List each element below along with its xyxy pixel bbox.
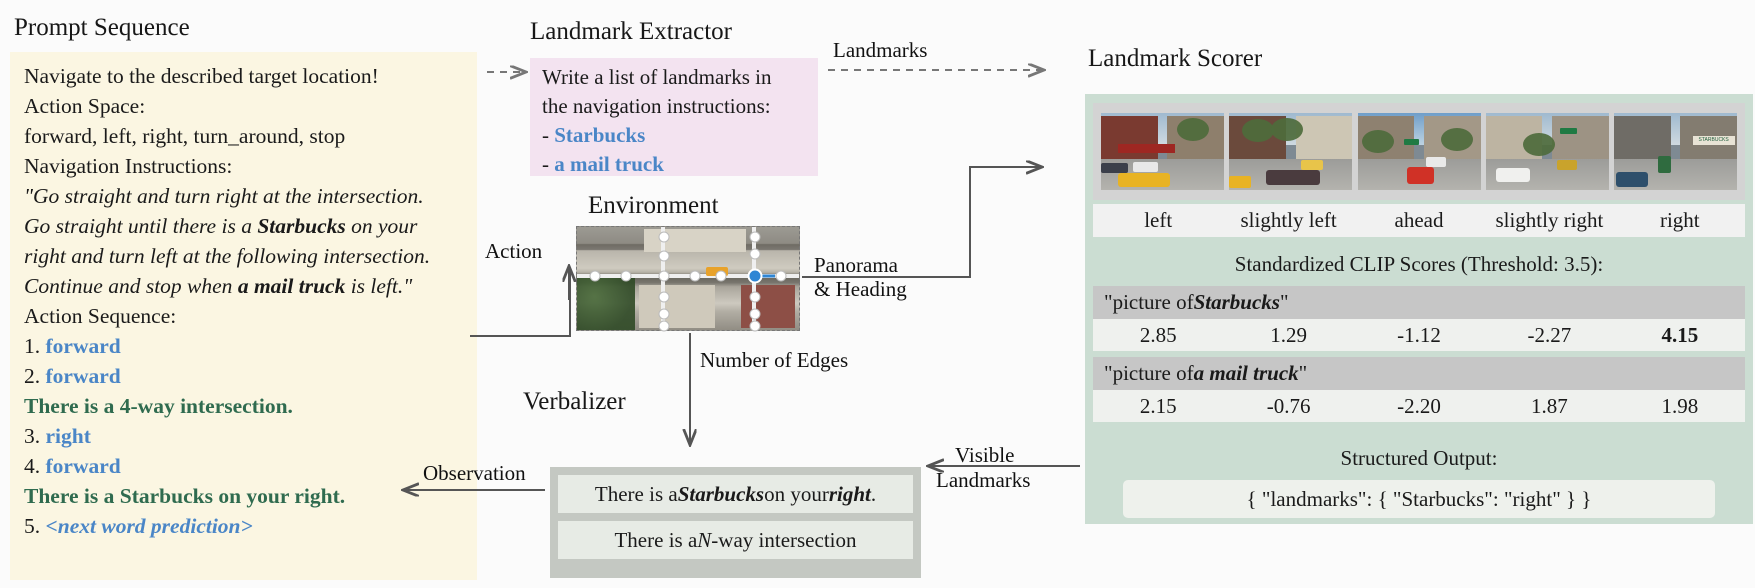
arrow-label-visible: Visible (955, 443, 1014, 468)
prompt-line-navigate: Navigate to the described target locatio… (10, 52, 477, 91)
prompt-line-text: forward, left, right, turn_around, stop (24, 124, 345, 148)
prompt-line-text: Navigate to the described target locatio… (24, 64, 379, 88)
verbalizer-panel: There is a Starbucks on your right. Ther… (550, 467, 921, 578)
score-cell-right: 1.98 (1615, 394, 1745, 419)
street-sign (1560, 128, 1577, 133)
extracted-landmark-label: Starbucks (554, 123, 645, 147)
white-car (1496, 168, 1530, 182)
prompt-line-text: "Go straight and turn right at the inter… (24, 184, 424, 208)
extractor-instruction-line-1: Write a list of landmarks in (530, 58, 818, 92)
prompt-line-instruction-1: "Go straight and turn right at the inter… (10, 181, 477, 211)
action-step-1: 1. forward (10, 331, 477, 361)
observation-line-1: There is a 4-way intersection. (10, 391, 477, 421)
action-step-number: 5. (24, 514, 40, 538)
verbalizer-text: . (871, 482, 876, 507)
agent-position-marker (747, 269, 762, 284)
action-step-value: forward (46, 364, 121, 388)
prompt-line-text: is left." (345, 274, 412, 298)
verbalizer-n-variable: N (697, 528, 711, 553)
graph-node (658, 292, 669, 303)
map-building-right (741, 285, 794, 328)
action-step-number: 3. (24, 424, 40, 448)
score-cell-ahead: -2.20 (1354, 394, 1484, 419)
landmark-extractor-panel: Write a list of landmarks in the navigat… (530, 58, 818, 176)
prompt-line-instruction-4: Continue and stop when a mail truck is l… (10, 271, 477, 301)
prompt-line-action-space-values: forward, left, right, turn_around, stop (10, 121, 477, 151)
starbucks-storefront-sign: STARBUCKS (1693, 136, 1735, 144)
score-block-mail-truck: "picture of a mail truck" 2.15 -0.76 -2.… (1093, 357, 1745, 422)
tree (1242, 119, 1274, 142)
score-cell-left: 2.85 (1093, 323, 1223, 348)
tree (1177, 118, 1209, 141)
verbalizer-text: on your (764, 482, 829, 507)
landmark-scorer-panel: STARBUCKS left slightly left ahead sligh… (1085, 94, 1753, 524)
arrow-label-number-of-edges: Number of Edges (700, 348, 848, 373)
graph-node (749, 248, 760, 259)
arrow-action-to-environment (470, 272, 570, 336)
arrow-label-landmarks: Landmarks (833, 38, 927, 63)
score-cell-slightly-right: 1.87 (1484, 394, 1614, 419)
arrow-label-heading: & Heading (814, 277, 907, 302)
bullet-marker: - (542, 152, 549, 176)
action-step-3: 3. right (10, 421, 477, 451)
heading-label-slightly-left: slightly left (1223, 208, 1353, 233)
tree (1271, 118, 1303, 141)
map-building-left (639, 285, 714, 328)
action-step-number: 1. (24, 334, 40, 358)
action-step-5: 5. <next word prediction> (10, 511, 477, 541)
arrow-label-action: Action (485, 239, 542, 264)
graph-node (749, 292, 760, 303)
red-awning (1118, 144, 1175, 153)
query-text: " (1280, 290, 1289, 315)
panorama-image-right: STARBUCKS (1614, 113, 1737, 190)
yellow-taxi (1118, 173, 1170, 187)
extracted-landmark-item-2: - a mail truck (530, 150, 818, 179)
prompt-line-text: Go straight until there is a (24, 214, 257, 238)
tree (1523, 133, 1555, 156)
graph-node (776, 271, 787, 282)
score-cell-left: 2.15 (1093, 394, 1223, 419)
arrow-label-visible-landmarks: Landmarks (936, 468, 1030, 493)
prompt-line-text: Action Space: (24, 94, 145, 118)
prompt-line-text: Continue and stop when (24, 274, 238, 298)
query-landmark: a mail truck (1194, 361, 1299, 386)
observation-text: There is a 4-way intersection. (24, 394, 293, 418)
landmark-extractor-title: Landmark Extractor (530, 18, 732, 46)
prompt-landmark-starbucks: Starbucks (257, 214, 345, 238)
heading-label-right: right (1615, 208, 1745, 233)
score-cell-slightly-left: -0.76 (1223, 394, 1353, 419)
car (1616, 172, 1648, 187)
score-cell-right: 4.15 (1615, 323, 1745, 348)
graph-node (620, 271, 631, 282)
building (1101, 116, 1158, 164)
yellow-taxi (1301, 160, 1323, 170)
graph-node (716, 271, 727, 282)
environment-map-image (576, 226, 800, 331)
next-word-prediction-placeholder: <next word prediction> (46, 514, 253, 538)
score-values-starbucks: 2.85 1.29 -1.12 -2.27 4.15 (1093, 319, 1745, 351)
prompt-line-action-sequence-label: Action Sequence: (10, 301, 477, 331)
panorama-heading-labels-row: left slightly left ahead slightly right … (1093, 204, 1745, 237)
verbalizer-direction: right (829, 482, 871, 507)
action-step-2: 2. forward (10, 361, 477, 391)
score-values-mail-truck: 2.15 -0.76 -2.20 1.87 1.98 (1093, 390, 1745, 422)
graph-node (658, 250, 669, 261)
extractor-instruction-line-2: the navigation instructions: (530, 92, 818, 121)
verbalizer-text: -way intersection (711, 528, 856, 553)
arrow-label-observation: Observation (423, 461, 526, 486)
heading-label-ahead: ahead (1354, 208, 1484, 233)
graph-node (658, 308, 669, 319)
graph-node (589, 271, 600, 282)
yellow-taxi (1229, 176, 1251, 188)
clip-scores-title: Standardized CLIP Scores (Threshold: 3.5… (1093, 252, 1745, 277)
prompt-line-instruction-3: right and turn left at the following int… (10, 241, 477, 271)
extracted-landmark-item-1: - Starbucks (530, 121, 818, 150)
graph-node (658, 232, 669, 243)
map-vegetation (577, 274, 635, 330)
panorama-image-left (1101, 113, 1224, 190)
trash-bin (1658, 156, 1670, 173)
action-step-number: 2. (24, 364, 40, 388)
arrow-label-panorama: Panorama (814, 253, 898, 278)
car (1266, 170, 1320, 185)
bullet-marker: - (542, 123, 549, 147)
prompt-sequence-title: Prompt Sequence (14, 14, 190, 42)
verbalizer-row-landmark: There is a Starbucks on your right. (558, 475, 913, 513)
score-cell-slightly-right: -2.27 (1484, 323, 1614, 348)
action-step-4: 4. forward (10, 451, 477, 481)
graph-node (658, 320, 669, 331)
action-step-value: forward (46, 454, 121, 478)
score-query-mail-truck: "picture of a mail truck" (1093, 357, 1745, 390)
action-step-value: right (46, 424, 91, 448)
heading-label-slightly-right: slightly right (1484, 208, 1614, 233)
score-block-starbucks: "picture of Starbucks" 2.85 1.29 -1.12 -… (1093, 286, 1745, 351)
verbalizer-text: There is a (614, 528, 697, 553)
graph-node (749, 308, 760, 319)
graph-node (658, 271, 669, 282)
yellow-taxi (1557, 160, 1577, 170)
structured-output-value: { "landmarks": { "Starbucks": "right" } … (1123, 480, 1715, 518)
extracted-landmark-label: a mail truck (554, 152, 664, 176)
panorama-image-ahead (1358, 113, 1481, 190)
panorama-image-slightly-right (1486, 113, 1609, 190)
landmark-scorer-title: Landmark Scorer (1088, 45, 1262, 73)
graph-node (689, 271, 700, 282)
verbalizer-row-intersection: There is a N-way intersection (558, 521, 913, 559)
prompt-sequence-panel: Navigate to the described target locatio… (10, 52, 477, 580)
environment-title: Environment (588, 192, 719, 220)
building (1296, 116, 1353, 164)
van (1426, 157, 1446, 167)
observation-text: There is a Starbucks on your right. (24, 484, 345, 508)
score-query-starbucks: "picture of Starbucks" (1093, 286, 1745, 319)
query-landmark: Starbucks (1194, 290, 1280, 315)
action-step-number: 4. (24, 454, 40, 478)
graph-node (749, 320, 760, 331)
score-cell-slightly-left: 1.29 (1223, 323, 1353, 348)
action-step-value: forward (46, 334, 121, 358)
panorama-strip: STARBUCKS (1093, 103, 1745, 200)
panorama-image-slightly-left (1229, 113, 1352, 190)
prompt-line-action-space-label: Action Space: (10, 91, 477, 121)
red-car (1407, 167, 1434, 184)
verbalizer-title: Verbalizer (523, 388, 626, 416)
structured-output-title: Structured Output: (1093, 446, 1745, 471)
structured-output-text: { "landmarks": { "Starbucks": "right" } … (1247, 487, 1592, 512)
graph-node (749, 232, 760, 243)
prompt-line-text: on your (346, 214, 418, 238)
heading-label-left: left (1093, 208, 1223, 233)
prompt-line-text: Action Sequence: (24, 304, 176, 328)
prompt-line-text: Navigation Instructions: (24, 154, 232, 178)
prompt-landmark-mail-truck: a mail truck (238, 274, 346, 298)
query-text: "picture of (1104, 361, 1194, 386)
score-cell-ahead: -1.12 (1354, 323, 1484, 348)
car (1101, 163, 1128, 173)
prompt-line-nav-instructions-label: Navigation Instructions: (10, 151, 477, 181)
query-text: " (1299, 361, 1308, 386)
observation-line-2: There is a Starbucks on your right. (10, 481, 477, 511)
building (1552, 116, 1609, 164)
verbalizer-landmark: Starbucks (678, 482, 764, 507)
prompt-line-text: right and turn left at the following int… (24, 244, 430, 268)
verbalizer-text: There is a (595, 482, 678, 507)
arrow-action-head (470, 272, 570, 336)
street-sign (1404, 139, 1419, 144)
prompt-line-instruction-2: Go straight until there is a Starbucks o… (10, 211, 477, 241)
query-text: "picture of (1104, 290, 1194, 315)
van (1133, 162, 1158, 172)
